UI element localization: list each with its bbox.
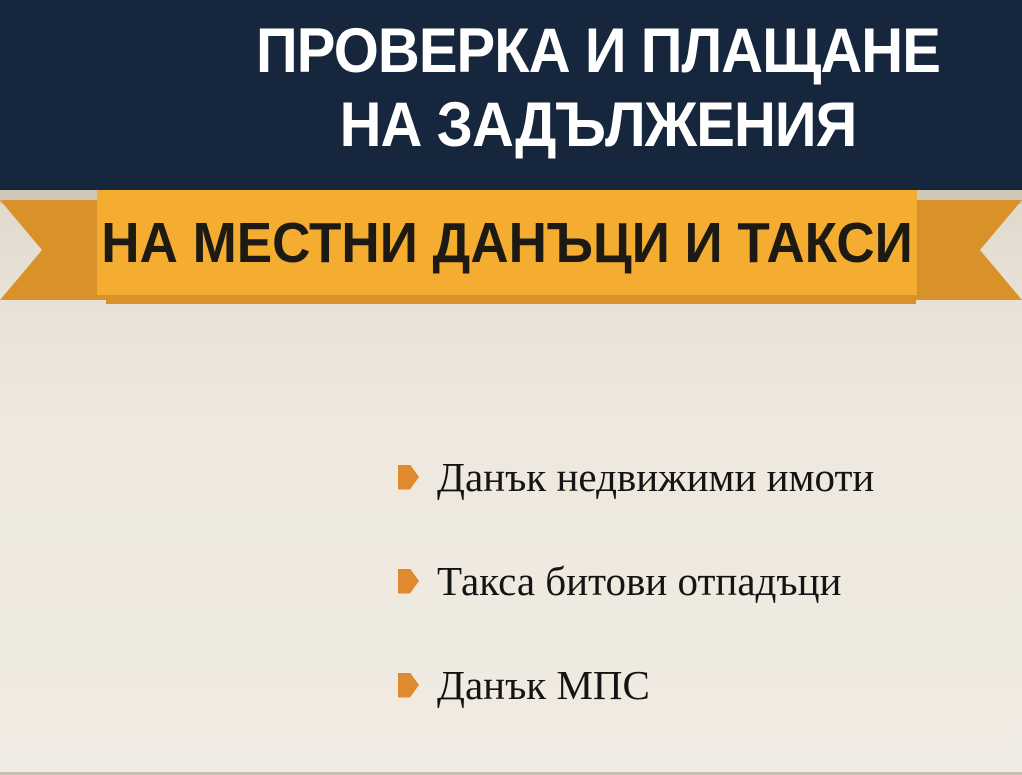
stamp-perforation xyxy=(218,730,239,751)
stamp-perforation xyxy=(97,699,118,720)
stamp-perforation xyxy=(380,411,399,430)
list-item-label: Данък недвижими имоти xyxy=(437,457,874,498)
stamp-perforation xyxy=(374,537,393,556)
list-item-label: Данък МПС xyxy=(437,665,650,706)
stamp-perforation xyxy=(68,508,87,527)
stamp-perforation xyxy=(372,573,391,592)
stamp-perforation xyxy=(294,638,315,659)
stamp-perforation xyxy=(3,382,22,401)
stamp-perforation xyxy=(0,326,18,345)
stamp-perforation xyxy=(336,571,355,590)
page-title: ПРОВЕРКА И ПЛАЩАНЕ НА ЗАДЪЛЖЕНИЯ xyxy=(219,14,977,162)
stamp-perforation xyxy=(363,392,382,411)
stamp-perforation xyxy=(142,503,161,522)
stamp-perforation xyxy=(302,674,323,695)
stamp-perforation xyxy=(70,571,91,592)
stamp-perforation xyxy=(373,555,392,574)
stamp-frame xyxy=(7,303,226,522)
stamp-perforation xyxy=(237,386,256,405)
stamp-perforation xyxy=(86,507,105,526)
arrow-bullet-icon xyxy=(398,465,419,490)
stamp-perforation xyxy=(195,510,214,529)
stamp-perforation xyxy=(375,501,394,520)
stamp-perforation xyxy=(376,483,395,502)
stamp-perforation xyxy=(49,510,68,529)
stamp-perforation xyxy=(309,711,330,732)
stamp-perforation xyxy=(84,549,105,570)
stamp-perforation xyxy=(66,553,87,574)
arrow-bullet-icon xyxy=(398,673,419,698)
stamp-perforation xyxy=(255,722,276,743)
stamp-perforation xyxy=(93,680,114,701)
stamp-perforation xyxy=(306,693,327,714)
stamp-perforation xyxy=(101,717,122,738)
list-item[interactable]: Данък МПС xyxy=(398,633,1008,737)
stamp-perforation xyxy=(273,388,292,407)
stamp-perforation xyxy=(381,393,400,412)
list-item[interactable]: Такса битови отпадъци xyxy=(398,529,1008,633)
stamp-perforation xyxy=(179,501,198,520)
stamp-perforation xyxy=(157,534,178,555)
stamp-perforation xyxy=(377,465,396,484)
stamp-perforation xyxy=(7,438,26,457)
car-icon xyxy=(128,581,268,704)
stamp-perforation xyxy=(90,662,111,683)
stamp-perforation xyxy=(145,746,166,767)
stamp-perforation xyxy=(139,537,160,558)
stamp-perforation xyxy=(161,502,180,521)
stamp-perforation xyxy=(236,726,257,747)
stamp-perforation xyxy=(282,583,303,604)
stamp-perforation xyxy=(298,656,319,677)
stamp-perforation xyxy=(164,742,185,763)
stamp-perforation xyxy=(9,475,28,494)
stamp-perforation xyxy=(1,364,20,383)
stamp-perforation xyxy=(286,601,307,622)
stamp-perforation xyxy=(0,345,19,364)
stamp-perforation xyxy=(78,608,99,629)
list-item[interactable]: Данък недвижими имоти xyxy=(398,425,1008,529)
stamp-perforation xyxy=(5,419,24,438)
header-bar: ПРОВЕРКА И ПЛАЩАНЕ НА ЗАДЪЛЖЕНИЯ xyxy=(0,0,1022,198)
stamp-perforation xyxy=(273,719,294,740)
ribbon-subtitle: НА МЕСТНИ ДАНЪЦИ И ТАКСИ xyxy=(126,190,889,295)
stamp-inner xyxy=(28,324,204,500)
stamp-perforation xyxy=(200,734,221,755)
stamp-perforation xyxy=(182,738,203,759)
stamp-card-house xyxy=(7,303,226,522)
stamp-perforation xyxy=(318,570,337,589)
stamp-perforation xyxy=(206,349,225,368)
stamp-perforation xyxy=(10,494,29,513)
stamp-perforation xyxy=(309,390,328,409)
stamp-perforation xyxy=(103,545,124,566)
poster-canvas: НА МЕСТНИ ДАНЪЦИ И ТАКСИ ПРОВЕРКА И ПЛАЩ… xyxy=(0,0,1022,772)
stamp-perforation xyxy=(82,626,103,647)
ribbon-banner: НА МЕСТНИ ДАНЪЦИ И ТАКСИ xyxy=(0,190,1022,310)
stamp-perforation xyxy=(203,312,222,331)
stamp-inner xyxy=(101,545,297,741)
stamp-perforation xyxy=(378,447,397,466)
stamp-card-vehicle xyxy=(77,521,320,764)
stamp-perforation xyxy=(30,511,49,530)
stamp-perforation xyxy=(176,530,197,551)
stamp-perforation xyxy=(127,750,148,771)
stamp-perforation xyxy=(105,506,124,525)
stamp-perforation xyxy=(205,331,224,350)
stamp-perforation xyxy=(74,589,95,610)
stamp-perforation xyxy=(4,401,23,420)
stamp-perforation xyxy=(327,391,346,410)
stamp-perforation xyxy=(207,368,226,387)
stamp-frame xyxy=(77,521,320,764)
stamp-perforation xyxy=(0,308,17,327)
house-icon xyxy=(54,354,179,472)
stamp-perforation xyxy=(375,519,394,538)
stamp-perforation xyxy=(354,572,373,591)
stamp-perforation xyxy=(121,541,142,562)
stamp-perforation xyxy=(290,620,311,641)
stamp-perforation xyxy=(291,715,312,736)
stamp-perforation xyxy=(291,389,310,408)
stamp-perforation xyxy=(123,504,142,523)
list-item-label: Такса битови отпадъци xyxy=(437,561,841,602)
stamp-perforation xyxy=(345,391,364,410)
stamp-perforation xyxy=(86,644,107,665)
stamp-perforation xyxy=(8,457,27,476)
stamp-perforation xyxy=(255,387,274,406)
stamp-perforation xyxy=(105,735,126,756)
service-list: Данък недвижими имоти Такса битови отпад… xyxy=(398,425,1008,737)
stamp-perforation xyxy=(12,512,31,531)
stamp-perforation xyxy=(300,569,319,588)
stamp-perforation xyxy=(219,385,238,404)
stamp-perforation xyxy=(379,429,398,448)
arrow-bullet-icon xyxy=(398,569,419,594)
